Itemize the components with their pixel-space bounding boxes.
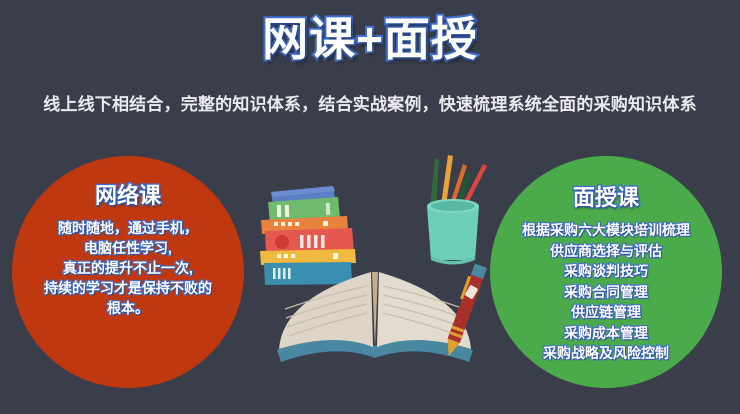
book-stack-icon bbox=[260, 186, 356, 285]
offline-course-circle: 面授课 根据采购六大模块培训梳理 供应商选择与评估 采购谈判技巧 采购合同管理 … bbox=[490, 156, 722, 388]
offline-course-body: 根据采购六大模块培训梳理 供应商选择与评估 采购谈判技巧 采购合同管理 供应链管… bbox=[490, 220, 722, 364]
online-course-line: 持续的学习才是保持不败的 bbox=[14, 278, 242, 298]
offline-course-line: 采购战略及风险控制 bbox=[492, 343, 720, 364]
open-book-icon bbox=[277, 272, 473, 362]
offline-course-line: 根据采购六大模块培训梳理 bbox=[492, 220, 720, 241]
page-subtitle: 线上线下相结合，完整的知识体系，结合实战案例，快速梳理系统全面的采购知识体系 bbox=[0, 90, 740, 115]
offline-course-line: 供应链管理 bbox=[492, 302, 720, 323]
offline-course-line: 供应商选择与评估 bbox=[492, 241, 720, 262]
offline-course-line: 采购成本管理 bbox=[492, 323, 720, 344]
online-course-line: 根本。 bbox=[14, 298, 242, 318]
online-course-body: 随时随地，通过手机， 电脑任性学习, 真正的提升不止一次, 持续的学习才是保持不… bbox=[12, 218, 244, 318]
online-course-circle: 网络课 随时随地，通过手机， 电脑任性学习, 真正的提升不止一次, 持续的学习才… bbox=[12, 156, 244, 388]
online-course-line: 电脑任性学习, bbox=[14, 238, 242, 258]
slide-canvas: 网课+面授 线上线下相结合，完整的知识体系，结合实战案例，快速梳理系统全面的采购… bbox=[0, 0, 740, 414]
offline-course-line: 采购谈判技巧 bbox=[492, 261, 720, 282]
online-course-line: 随时随地，通过手机， bbox=[14, 218, 242, 238]
online-course-heading: 网络课 bbox=[12, 178, 244, 210]
pencil-cup-icon bbox=[427, 155, 487, 265]
offline-course-line: 采购合同管理 bbox=[492, 282, 720, 303]
study-desk-illustration bbox=[255, 150, 495, 395]
page-title: 网课+面授 bbox=[0, 8, 740, 70]
offline-course-heading: 面授课 bbox=[490, 180, 722, 212]
online-course-line: 真正的提升不止一次, bbox=[14, 258, 242, 278]
